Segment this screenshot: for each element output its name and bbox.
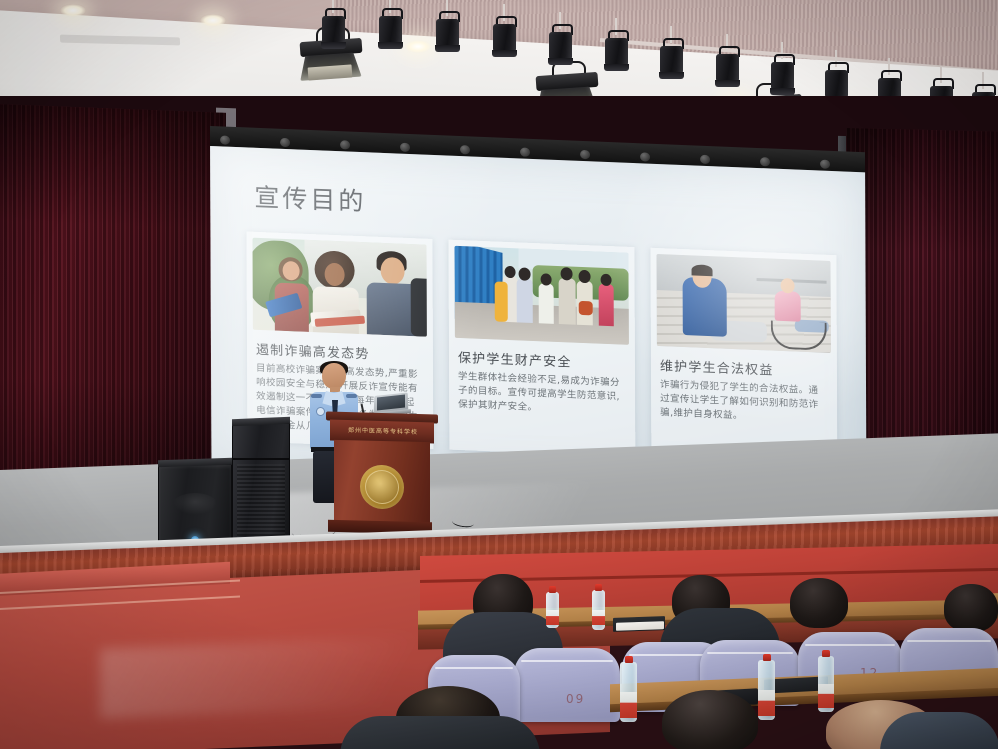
students-walking-campus-photo (454, 246, 628, 345)
downlight-icon (60, 4, 86, 17)
bottle-cap (763, 654, 771, 661)
paper-handout (616, 621, 664, 631)
downlight-icon (200, 14, 226, 27)
uniform-epaulette (311, 394, 322, 398)
stage-tower-speaker (232, 423, 290, 553)
water-bottle (818, 656, 834, 712)
bottle-label (620, 692, 637, 718)
stage-curtain-right-shading (846, 128, 998, 482)
bottle-cap (549, 586, 556, 593)
audience-seat: 09 (514, 648, 620, 722)
school-crest-emblem (360, 464, 404, 509)
bottle-cap (822, 650, 830, 657)
water-bottle (546, 592, 559, 628)
slide-card: 维护学生合法权益 诈骗行为侵犯了学生的合法权益。通过宣传让学生了解如何识别和防范… (650, 248, 837, 466)
water-bottle (758, 660, 775, 720)
slide-card-body: 学生群体社会经验不足,易成为诈骗分子的目标。宣传可提高学生防范意识,保护其财产安… (458, 370, 626, 419)
slide-card: 保护学生财产安全 学生群体社会经验不足,易成为诈骗分子的目标。宣传可提高学生防范… (448, 240, 635, 458)
seat-piping (707, 652, 793, 654)
presenter-head (322, 363, 346, 389)
slide-card-body: 诈骗行为侵犯了学生的合法权益。通过宣传让学生了解如何识别和防范诈骗,维护自身权益… (660, 378, 828, 427)
stage-curtain-left-shading (0, 104, 226, 503)
seat-piping (435, 667, 513, 669)
seat-piping (805, 644, 895, 646)
water-bottle (592, 590, 605, 630)
slide-title: 宣传目的 (254, 178, 366, 219)
bottle-cap (625, 656, 633, 663)
audience-head (790, 578, 848, 628)
seat-piping (521, 660, 613, 662)
students-sitting-steps-photo (656, 254, 830, 353)
lectern-podium: 郑州中医高等专科学校 (330, 413, 434, 531)
bottle-label (546, 610, 559, 625)
seat-piping (907, 640, 991, 642)
slide-card-heading: 维护学生合法权益 (660, 355, 828, 381)
auditorium-photo-scene: 宣传目的 (0, 0, 998, 749)
students-reading-books-photo (252, 238, 426, 337)
audience-shoulders (340, 716, 540, 749)
audience-head (944, 584, 998, 632)
uniform-epaulette (346, 394, 357, 398)
bottle-cap (595, 584, 602, 591)
bottle-label (818, 684, 834, 708)
downlight-icon (405, 40, 431, 53)
bottle-label (758, 690, 775, 716)
audience-shoulders (880, 712, 998, 749)
slide-card-heading: 保护学生财产安全 (458, 347, 626, 373)
water-bottle (620, 662, 637, 722)
bottle-label (592, 610, 605, 625)
audience-head (662, 690, 758, 749)
seat-number: 09 (566, 692, 585, 706)
uniform-badge (316, 407, 325, 416)
